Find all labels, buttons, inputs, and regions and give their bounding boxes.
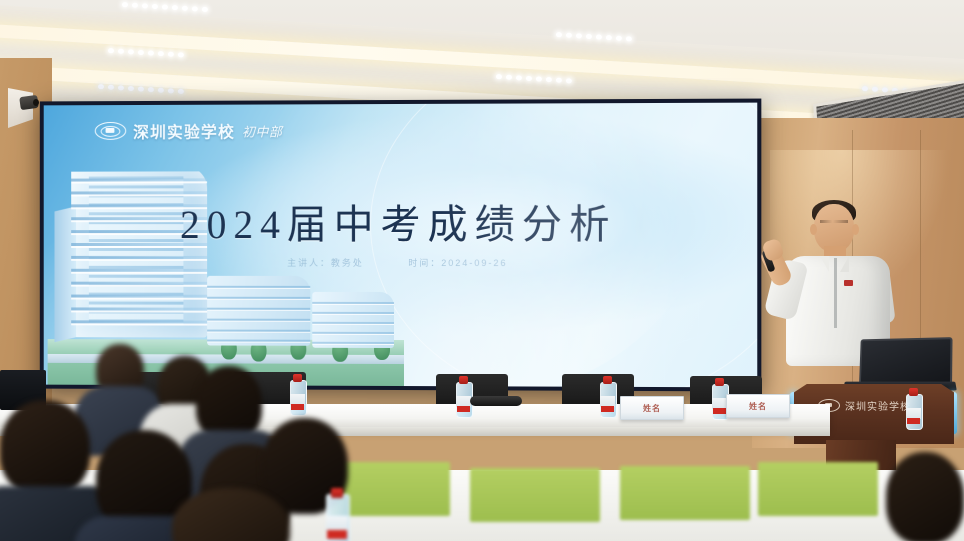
water-bottle: [906, 388, 921, 428]
presenter-head: [814, 204, 854, 252]
slide-canvas: 深圳实验学校 初中部 2024届中考成绩分析 主讲人：教务处 时间：2024-0…: [44, 103, 758, 388]
screen-glare: [44, 103, 758, 388]
name-plate: 姓名: [726, 394, 790, 418]
name-plate-text: 姓名: [749, 401, 767, 412]
camera-lens-icon: [33, 99, 39, 106]
audience-head: [0, 400, 90, 496]
water-bottle: [600, 376, 615, 416]
ceiling-spotlight-row: [108, 48, 184, 57]
presenter-badge: [844, 280, 853, 286]
ceiling-spotlight-row: [496, 74, 572, 83]
presentation-screen: 深圳实验学校 初中部 2024届中考成绩分析 主讲人：教务处 时间：2024-0…: [40, 99, 762, 392]
presenter-at-podium: 深圳实验学校: [768, 196, 964, 436]
water-bottle: [712, 378, 727, 418]
name-plate: 姓名: [620, 396, 684, 420]
audience-chair: [758, 462, 878, 516]
podium-school-logo: 深圳实验学校: [818, 398, 911, 413]
audience-chair: [620, 466, 750, 520]
water-bottle: [456, 376, 471, 416]
water-bottle: [326, 488, 348, 541]
audience-chair: [470, 468, 600, 522]
ceiling-spotlight-row: [122, 2, 208, 12]
audience-head: [886, 452, 964, 541]
desk-microphone: [470, 396, 522, 406]
water-bottle: [290, 374, 305, 414]
conference-room-photo: 深圳实验学校 初中部 2024届中考成绩分析 主讲人：教务处 时间：2024-0…: [0, 0, 964, 541]
podium-school-name: 深圳实验学校: [845, 398, 911, 413]
name-plate-text: 姓名: [643, 403, 661, 414]
